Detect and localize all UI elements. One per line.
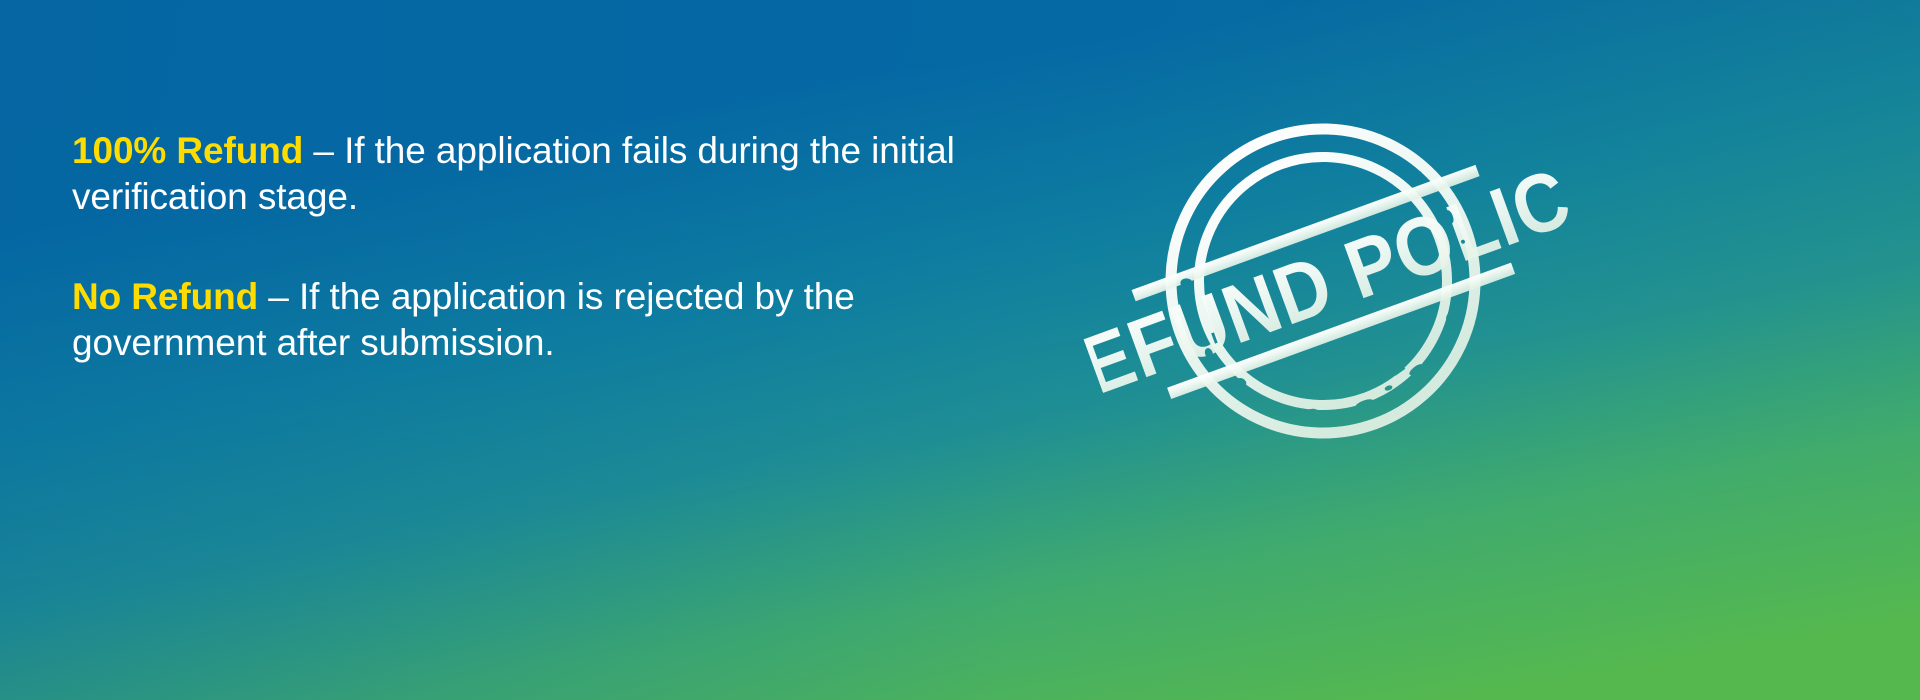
refund-policy-stamp: REFUND POLICY [1108,96,1538,466]
policy-text-block: 100% Refund – If the application fails d… [72,128,972,365]
policy-dash-separator: – [303,130,344,171]
policy-item-no-refund: No Refund – If the application is reject… [72,274,972,365]
policy-item-100-refund: 100% Refund – If the application fails d… [72,128,972,219]
refund-policy-banner: 100% Refund – If the application fails d… [0,0,1920,700]
policy-lead-label: 100% Refund [72,130,303,171]
stamp-text: REFUND POLICY [1018,133,1630,431]
policy-lead-label: No Refund [72,276,258,317]
policy-dash-separator: – [258,276,299,317]
